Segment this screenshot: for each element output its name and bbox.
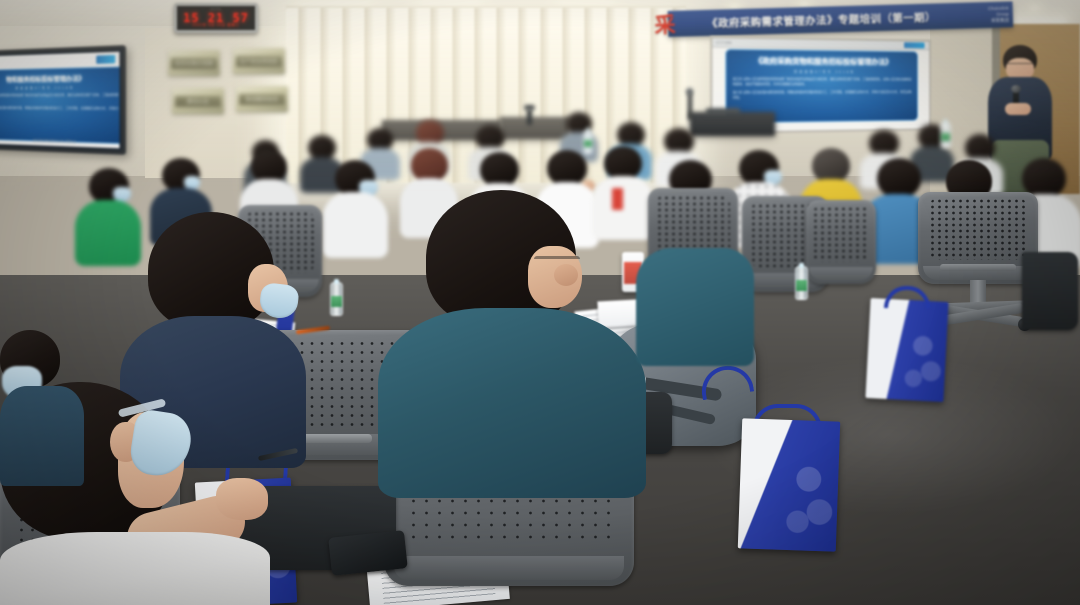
tote-bag-pattern xyxy=(865,298,948,402)
face-mask xyxy=(127,408,194,480)
chair-backrest xyxy=(806,200,876,284)
smartphone xyxy=(328,530,408,576)
wall-plaque: 生产安全责任区 xyxy=(233,48,285,74)
photo-scene: DIGITAL 15 21 57 2022年 9月 14日 星期三 党员先锋示范… xyxy=(0,0,1080,605)
chair-label-strip xyxy=(940,264,1016,271)
presenter-hand xyxy=(1005,103,1031,115)
chair-mesh-pattern xyxy=(929,198,1027,260)
monitor-slide: 物和服务招标投标管理办法》 财政部第87号令 2018年 第五条 采购人应当按照… xyxy=(0,66,120,144)
wall-plaque: 党员先锋示范岗 xyxy=(168,50,220,76)
face-mask xyxy=(258,282,300,320)
screen-badge-icon xyxy=(904,42,924,48)
conference-tote-bag xyxy=(865,298,948,402)
slide-paragraph-1: 第五条 采购人应当按照国务院财政部门制定的政府采购品目分类目录，确定采购项目属于… xyxy=(733,77,912,88)
microphone-stand xyxy=(688,92,692,120)
monitor-slide-meta: 财政部第87号令 2018年 xyxy=(0,84,118,90)
bottle-label xyxy=(331,296,342,307)
slide-title: 《政府采购货物和服务招标投标管理办法》 xyxy=(733,55,912,68)
foreground-attendee-center xyxy=(378,190,648,490)
water-bottle xyxy=(940,122,951,148)
conference-tote-bag xyxy=(738,418,840,551)
ceiling-light xyxy=(1010,18,1066,23)
wall-plaque: 廉洁从业 xyxy=(172,88,224,114)
banner-logo-icon: 采 xyxy=(648,7,683,42)
wall-plaque: 争创服务标兵 xyxy=(236,86,288,112)
training-chair xyxy=(806,200,876,284)
display-monitor-left: 物和服务招标投标管理办法》 财政部第87号令 2018年 第五条 采购人应当按照… xyxy=(0,45,126,155)
attendee-torso xyxy=(0,386,84,486)
banner-brand-line-3: 采联集团 xyxy=(951,18,1009,26)
desk-mic-head-icon xyxy=(524,105,535,110)
banner-title: 《政府采购需求管理办法》专题培训（第一期） xyxy=(668,9,951,32)
attendee-torso-white xyxy=(0,532,270,605)
bottle-label xyxy=(796,280,807,291)
foreground-attendee-right xyxy=(636,248,756,368)
chair-lip xyxy=(809,267,873,280)
attendee-ear xyxy=(554,264,578,286)
water-bottle xyxy=(583,130,593,154)
monitor-slide-paragraph-2: 第六条 采购人应当加强内部控制管理，明确采购需求管理的职责分工、工作流程，合理确… xyxy=(0,106,118,117)
audience-head xyxy=(877,158,921,198)
monitor-slide-title: 物和服务招标投标管理办法》 xyxy=(0,72,118,84)
water-bottle xyxy=(795,266,808,300)
slide-meta: 财政部第87号令 2018年 xyxy=(733,68,912,74)
ceiling-downlight xyxy=(1030,6,1039,11)
audience-head xyxy=(480,152,519,187)
clock-date-display: 2022年 9月 14日 星期三 xyxy=(177,23,255,28)
audience-head xyxy=(604,146,642,180)
bottle-label xyxy=(584,140,592,147)
microphone-head-icon xyxy=(1011,85,1021,93)
audience-head xyxy=(547,150,587,186)
monitor-panel: 物和服务招标投标管理办法》 财政部第87号令 2018年 第五条 采购人应当按照… xyxy=(0,52,120,149)
monitor-logo-icon xyxy=(96,55,115,64)
banner-brand: Choicelink Group 采联集团 xyxy=(951,5,1013,25)
desk-mic xyxy=(527,109,532,125)
water-bottle xyxy=(330,282,343,316)
attendee-hand xyxy=(216,478,268,520)
wall-plaque-text: 廉洁从业 xyxy=(175,96,221,107)
chair-tablet-arm xyxy=(1022,252,1078,330)
monitor-slide-paragraph-1: 第五条 采购人应当按照国务院财政部门制定的政府采购品目分类目录，确定采购项目属于… xyxy=(0,93,118,104)
attendee-torso-teal xyxy=(378,308,646,498)
microphone-head-icon xyxy=(686,88,693,95)
wall-plaque-text: 生产安全责任区 xyxy=(236,56,282,67)
chair-lip xyxy=(394,556,624,580)
foreground-attendee-far-left xyxy=(0,330,86,480)
attendee-torso xyxy=(636,248,754,366)
digital-wall-clock: DIGITAL 15 21 57 2022年 9月 14日 星期三 xyxy=(174,3,258,33)
glasses-icon xyxy=(534,256,580,263)
wall-plaque-text: 党员先锋示范岗 xyxy=(171,58,217,69)
chair-mesh-pattern xyxy=(812,206,869,262)
wall-plaque-text: 争创服务标兵 xyxy=(239,94,285,105)
av-mixer xyxy=(706,108,740,116)
slide-paragraph-2: 第六条 采购人应当加强内部控制管理，明确采购需求管理的职责分工、工作流程，合理确… xyxy=(733,90,912,101)
audience-head xyxy=(411,148,448,182)
audience-head xyxy=(812,148,850,183)
bottle-label xyxy=(941,133,950,141)
tote-bag-pattern xyxy=(738,418,840,551)
glasses-icon xyxy=(1006,63,1034,68)
screen-toolbar-label: 幻灯片放映 xyxy=(716,40,732,44)
audience-head xyxy=(965,134,995,161)
